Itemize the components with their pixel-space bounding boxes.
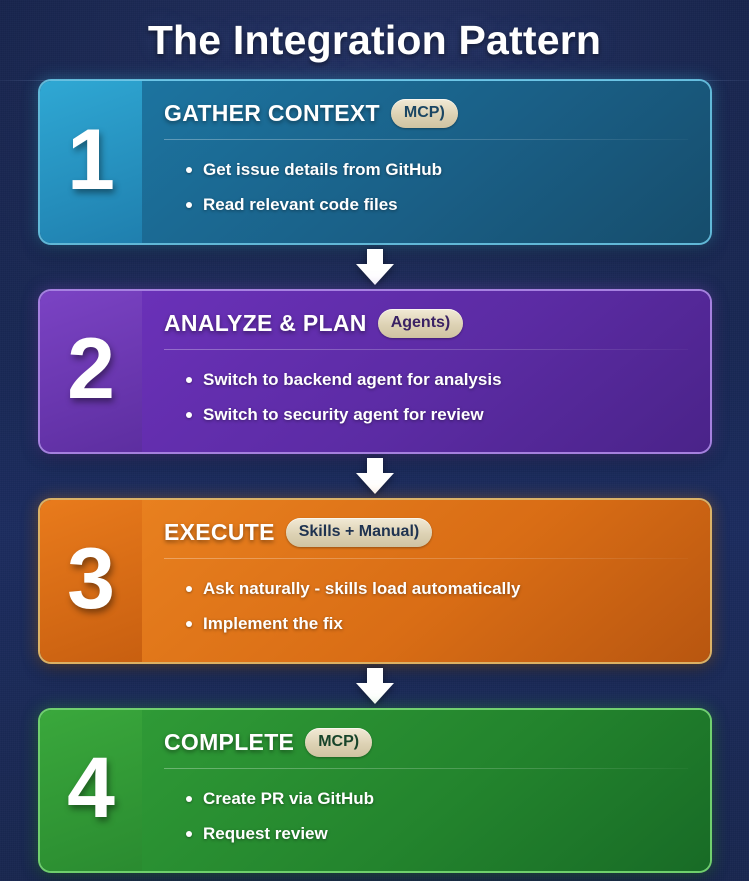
step-number-2: 2	[67, 326, 115, 412]
connector-2-to-3	[40, 452, 709, 500]
step-header-2: ANALYZE & PLAN Agents)	[164, 309, 688, 349]
step-title-4: COMPLETE	[164, 729, 294, 756]
list-item: Switch to security agent for review	[164, 397, 688, 432]
arrow-down-icon	[356, 668, 394, 704]
step-number-strip-2: 2	[40, 291, 142, 453]
bullet-text: Ask naturally - skills load automaticall…	[203, 578, 520, 599]
bullet-text: Read relevant code files	[203, 194, 398, 215]
list-item: Ask naturally - skills load automaticall…	[164, 571, 688, 606]
step-card-2[interactable]: 2 ANALYZE & PLAN Agents) Switch to backe…	[40, 291, 710, 453]
step-bullets-3: Ask naturally - skills load automaticall…	[164, 565, 688, 642]
step-bullets-2: Switch to backend agent for analysis Swi…	[164, 356, 688, 433]
bullet-text: Switch to security agent for review	[203, 404, 484, 425]
bullet-dot-icon	[186, 796, 192, 802]
page-title: The Integration Pattern	[148, 17, 601, 64]
step-badge-3: Skills + Manual)	[286, 518, 432, 547]
arrow-down-icon	[356, 458, 394, 494]
list-item: Create PR via GitHub	[164, 781, 688, 816]
list-item: Read relevant code files	[164, 187, 688, 222]
list-item: Switch to backend agent for analysis	[164, 362, 688, 397]
step-bullets-4: Create PR via GitHub Request review	[164, 775, 688, 852]
step-badge-1: MCP)	[391, 99, 458, 128]
bullet-dot-icon	[186, 167, 192, 173]
step-body-3: EXECUTE Skills + Manual) Ask naturally -…	[142, 500, 710, 662]
bullet-dot-icon	[186, 621, 192, 627]
step-card-4[interactable]: 4 COMPLETE MCP) Create PR via GitHub Req…	[40, 710, 710, 872]
step-title-3: EXECUTE	[164, 519, 275, 546]
step-header-3: EXECUTE Skills + Manual)	[164, 518, 688, 558]
connector-1-to-2	[40, 243, 709, 291]
bullet-dot-icon	[186, 412, 192, 418]
step-number-4: 4	[67, 745, 115, 831]
step-header-divider-2	[164, 349, 688, 350]
step-header-4: COMPLETE MCP)	[164, 728, 688, 768]
bullet-dot-icon	[186, 831, 192, 837]
step-header-1: GATHER CONTEXT MCP)	[164, 99, 688, 139]
step-number-strip-1: 1	[40, 81, 142, 243]
list-item: Request review	[164, 816, 688, 851]
step-number-3: 3	[67, 536, 115, 622]
step-body-1: GATHER CONTEXT MCP) Get issue details fr…	[142, 81, 710, 243]
step-header-divider-4	[164, 768, 688, 769]
steps-flow: 1 GATHER CONTEXT MCP) Get issue details …	[0, 81, 749, 871]
integration-pattern-page: The Integration Pattern 1 GATHER CONTEXT…	[0, 0, 749, 881]
step-body-4: COMPLETE MCP) Create PR via GitHub Reque…	[142, 710, 710, 872]
page-header: The Integration Pattern	[0, 0, 749, 81]
bullet-dot-icon	[186, 586, 192, 592]
arrow-down-icon	[356, 249, 394, 285]
step-badge-4: MCP)	[305, 728, 372, 757]
bullet-text: Get issue details from GitHub	[203, 159, 442, 180]
step-title-2: ANALYZE & PLAN	[164, 310, 367, 337]
step-card-1[interactable]: 1 GATHER CONTEXT MCP) Get issue details …	[40, 81, 710, 243]
step-body-2: ANALYZE & PLAN Agents) Switch to backend…	[142, 291, 710, 453]
list-item: Implement the fix	[164, 606, 688, 641]
list-item: Get issue details from GitHub	[164, 152, 688, 187]
step-number-strip-3: 3	[40, 500, 142, 662]
step-card-3[interactable]: 3 EXECUTE Skills + Manual) Ask naturally…	[40, 500, 710, 662]
step-header-divider-3	[164, 558, 688, 559]
step-title-1: GATHER CONTEXT	[164, 100, 380, 127]
step-number-strip-4: 4	[40, 710, 142, 872]
bullet-dot-icon	[186, 202, 192, 208]
step-header-divider-1	[164, 139, 688, 140]
step-bullets-1: Get issue details from GitHub Read relev…	[164, 146, 688, 223]
step-badge-2: Agents)	[378, 309, 464, 338]
bullet-text: Create PR via GitHub	[203, 788, 374, 809]
bullet-text: Switch to backend agent for analysis	[203, 369, 502, 390]
step-number-1: 1	[67, 117, 115, 203]
connector-3-to-4	[40, 662, 709, 710]
bullet-text: Request review	[203, 823, 328, 844]
bullet-text: Implement the fix	[203, 613, 343, 634]
bullet-dot-icon	[186, 377, 192, 383]
